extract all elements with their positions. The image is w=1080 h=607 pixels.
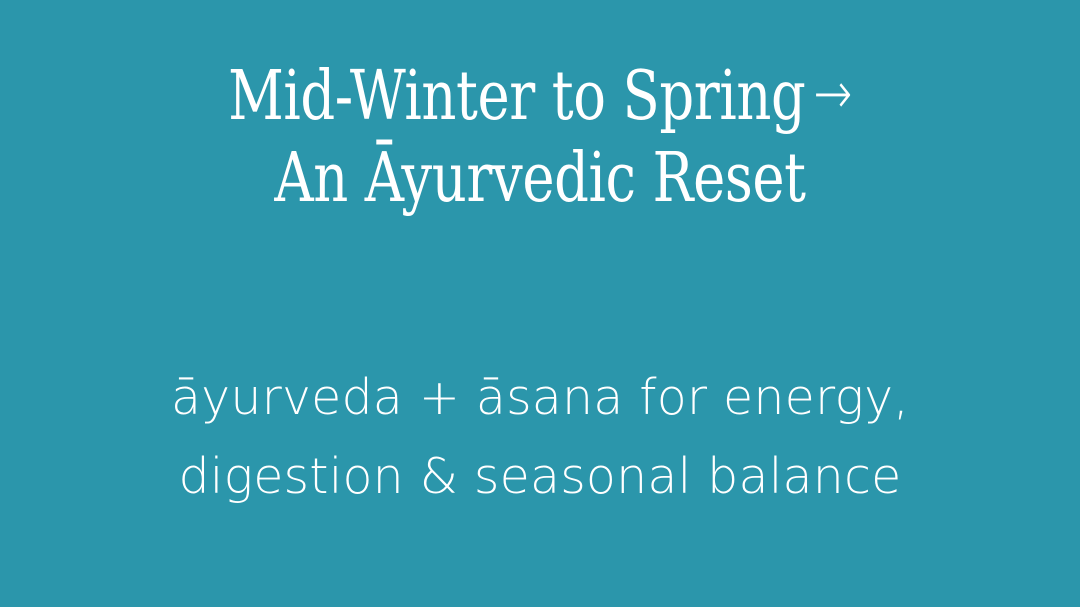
headline-line-2: An Āyurvedic Reset	[108, 138, 972, 220]
headline-block: Mid-Winter to Spring→ An Āyurvedic Reset	[108, 56, 972, 219]
right-arrow-icon: →	[805, 59, 851, 127]
headline-line-1: Mid-Winter to Spring→	[108, 56, 972, 138]
title-slide: Mid-Winter to Spring→ An Āyurvedic Reset…	[0, 0, 1080, 607]
subtitle-block: āyurveda + āsana for energy, digestion &…	[0, 358, 1080, 517]
subtitle-line-2: digestion & seasonal balance	[0, 437, 1080, 516]
headline-line-1-text: Mid-Winter to Spring	[228, 57, 805, 136]
subtitle-line-1: āyurveda + āsana for energy,	[0, 358, 1080, 437]
